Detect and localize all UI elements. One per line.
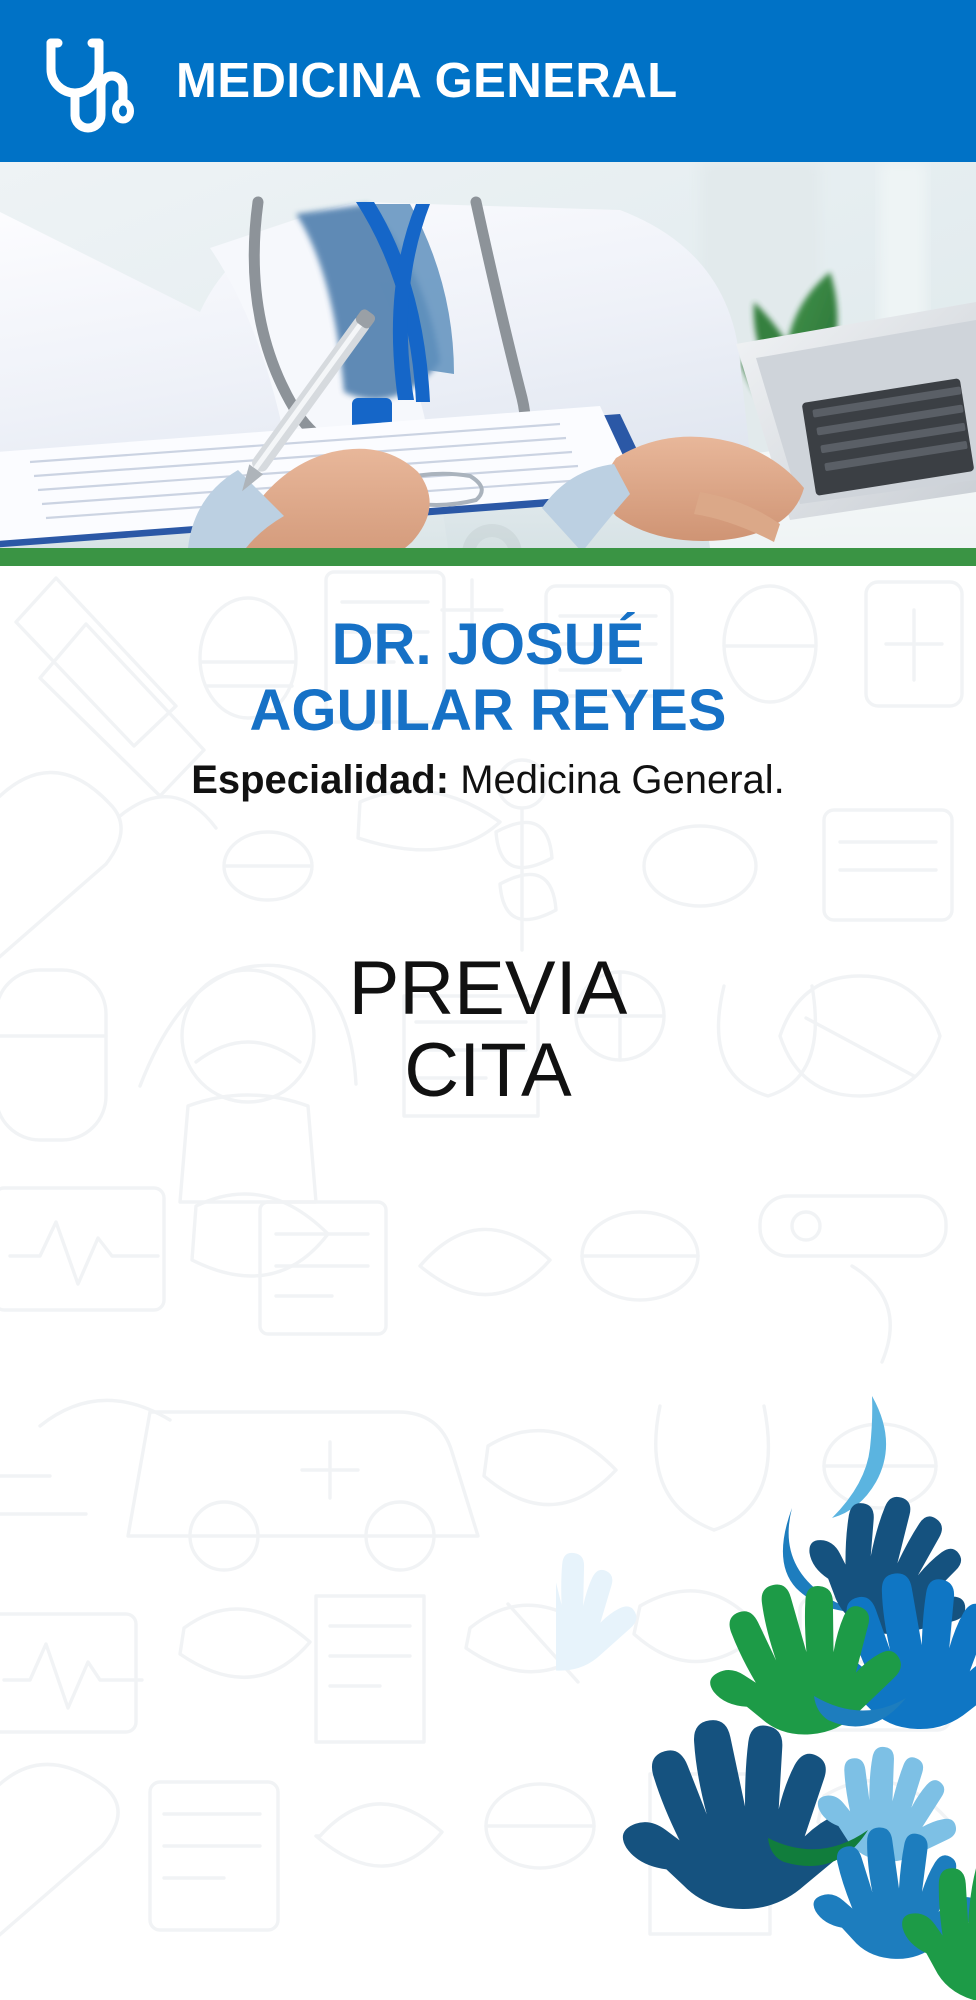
doctor-name-line2: AGUILAR REYES — [0, 678, 976, 744]
doctor-name: DR. JOSUÉ AGUILAR REYES — [0, 612, 976, 743]
specialty-line: Especialidad: Medicina General. — [0, 758, 976, 803]
green-divider — [0, 548, 976, 566]
poster-root: MEDICINA GENERAL — [0, 0, 976, 2000]
content-stack: DR. JOSUÉ AGUILAR REYES Especialidad: Me… — [0, 566, 976, 2000]
doctor-name-line1: DR. JOSUÉ — [0, 612, 976, 678]
header-title: MEDICINA GENERAL — [176, 53, 678, 109]
appointment-notice-line2: CITA — [0, 1030, 976, 1112]
specialty-label: Especialidad: — [191, 758, 449, 802]
body-section: DR. JOSUÉ AGUILAR REYES Especialidad: Me… — [0, 566, 976, 2000]
appointment-notice: PREVIA CITA — [0, 948, 976, 1112]
header-bar: MEDICINA GENERAL — [0, 0, 976, 162]
appointment-notice-line1: PREVIA — [0, 948, 976, 1030]
specialty-value: Medicina General. — [460, 758, 785, 802]
hero-photo — [0, 162, 976, 548]
stethoscope-icon — [38, 29, 134, 133]
